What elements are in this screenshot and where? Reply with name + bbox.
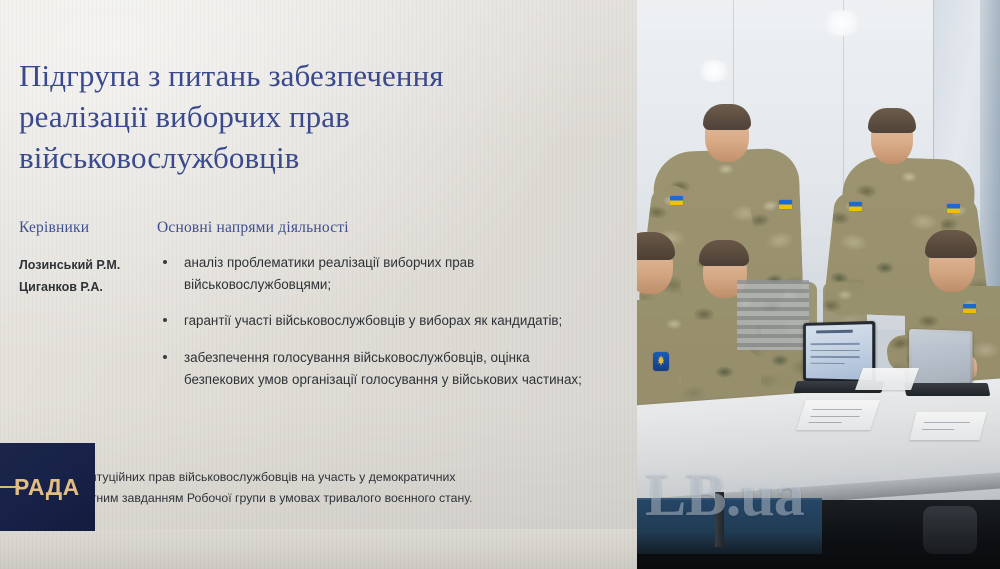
paper-document [910, 412, 987, 440]
rada-logo-text: РАДА [14, 474, 80, 501]
laptop-screen [909, 329, 973, 387]
laptop-document [912, 332, 970, 384]
paper-document [855, 368, 919, 390]
chair-shape [923, 506, 977, 554]
window-blind [737, 280, 809, 350]
ceiling-light-icon [697, 60, 731, 82]
leaders-names: Лозинський Р.М. Циганков Р.А. [19, 255, 159, 298]
leaders-heading: Керівники [19, 219, 89, 237]
document-line [811, 343, 860, 345]
paper-document [796, 400, 880, 430]
screenshot-root: Підгрупа з питань забезпечення реалізаці… [0, 0, 1000, 569]
slide-bottom-strip [0, 529, 637, 569]
list-item: забезпечення голосування військовослужбо… [157, 347, 587, 390]
photograph: LB.ua [637, 0, 1000, 569]
slide-footnote: ня конституційних прав військовослужбовц… [42, 467, 587, 509]
document-line [811, 363, 845, 365]
slide-title: Підгрупа з питань забезпечення реалізаці… [19, 55, 619, 179]
list-item: аналіз проблематики реалізації виборчих … [157, 252, 587, 295]
laptop-keyboard [904, 383, 991, 396]
lbua-watermark: LB.ua [645, 460, 804, 531]
ceiling-light-icon [822, 10, 862, 36]
activities-list: аналіз проблематики реалізації виборчих … [157, 252, 587, 406]
document-line [811, 356, 860, 358]
document-title-line [816, 330, 853, 334]
presentation-slide: Підгрупа з питань забезпечення реалізаці… [0, 0, 637, 569]
list-item: гарантії участі військовослужбовців у ви… [157, 310, 587, 332]
rada-logo-plate: РАДА [0, 443, 95, 531]
document-line [811, 350, 860, 352]
activities-heading: Основні напрями діяльності [157, 219, 349, 237]
